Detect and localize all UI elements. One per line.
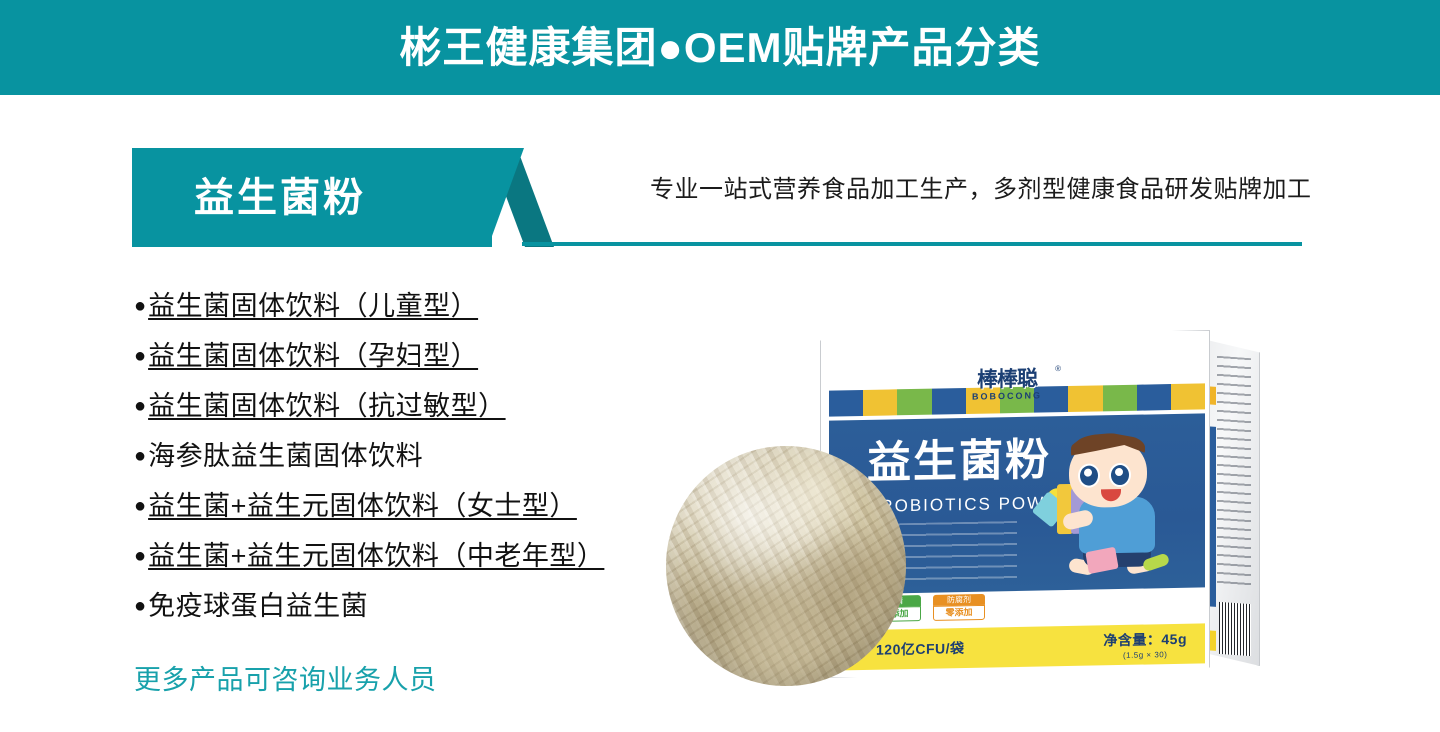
page-title: 彬王健康集团●OEM贴牌产品分类 [399,27,1040,69]
brand-logo: ® 棒棒聪 BOBOCONG [947,364,1067,406]
barcode-icon [1219,602,1251,656]
carton-stripe-segment [1171,383,1205,410]
carton-stripe-segment [1068,385,1102,412]
registered-mark-icon: ® [1055,364,1061,373]
list-item-label: 海参肽益生菌固体饮料 [148,443,423,470]
claim-badge-no-preservative: 防腐剂 零添加 [933,594,985,621]
contact-footnote: 更多产品可咨询业务人员 [134,667,437,694]
bullet-icon: ● [134,596,146,616]
toy-block-icon [1085,547,1118,574]
carton-net-weight-sub: (1.5g × 30) [1103,650,1187,661]
list-item: ● 益生菌固体饮料（儿童型） [134,293,754,320]
carton-stripe-segment [1103,385,1137,412]
bullet-icon: ● [134,546,146,566]
list-item-label: 免疫球蛋白益生菌 [148,593,368,620]
bullet-icon: ● [134,296,146,316]
list-item-label: 益生菌+益生元固体饮料（女士型） [148,493,577,520]
claim-badge-bottom-label: 零添加 [933,605,985,621]
carton-stripe-segment [829,390,863,417]
product-photo: ® 棒棒聪 BOBOCONG 益生菌粉 PROBIOTICS POWDER 固体… [640,320,1320,720]
section-tagline: 专业一站式营养食品加工生产，多剂型健康食品研发贴牌加工 [650,178,1312,202]
page-header: 彬王健康集团●OEM贴牌产品分类 [0,0,1440,95]
list-item-label: 益生菌固体饮料（孕妇型） [148,343,478,370]
product-category-page: 彬王健康集团●OEM贴牌产品分类 益生菌粉 专业一站式营养食品加工生产，多剂型健… [0,0,1440,732]
category-badge-label: 益生菌粉 [194,178,366,218]
category-badge: 益生菌粉 [132,148,492,247]
carton-stripe-segment [863,389,897,416]
section-divider-rule [522,242,1302,246]
brand-name-en: BOBOCONG [972,391,1042,401]
list-item-label: 益生菌固体饮料（抗过敏型） [148,393,506,420]
bullet-icon: ● [134,396,146,416]
bullet-icon: ● [134,496,146,516]
carton-net-weight-label: 净含量：45g [1103,629,1187,651]
carton-side-text-block [1217,356,1251,588]
baby-mascot-illustration [1031,430,1181,583]
section-band: 益生菌粉 专业一站式营养食品加工生产，多剂型健康食品研发贴牌加工 [132,148,1302,248]
brand-name-cn: 棒棒聪 [977,368,1037,390]
carton-stripe-segment [1137,384,1171,411]
bullet-icon: ● [134,346,146,366]
bullet-icon: ● [134,446,146,466]
powder-closeup-circle [666,446,906,686]
list-item-label: 益生菌固体饮料（儿童型） [148,293,478,320]
carton-net-weight: 净含量：45g (1.5g × 30) [1103,629,1187,661]
carton-stripe-segment [897,389,931,416]
list-item-label: 益生菌+益生元固体饮料（中老年型） [148,543,604,570]
